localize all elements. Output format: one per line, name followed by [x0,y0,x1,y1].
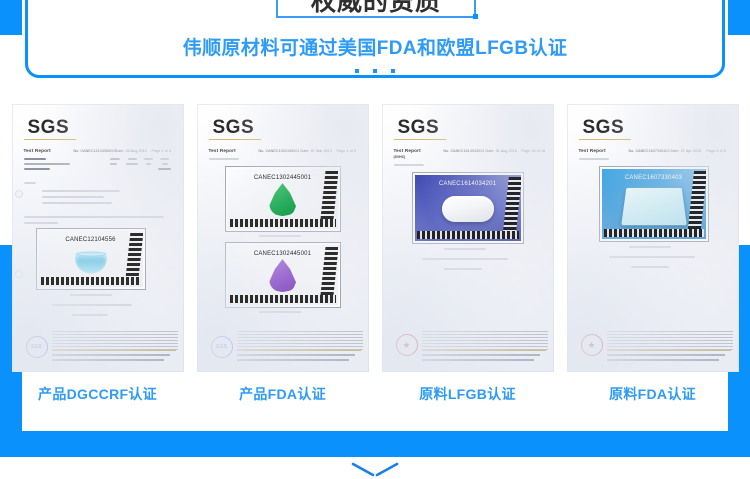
report-title: Test Report [579,148,606,154]
seal-label: SGS [31,344,42,350]
ruler-horizontal [417,231,519,239]
certificate-scan[interactable]: SGS Test Report No. CANEC1607330403 Date… [567,104,739,372]
sample-photo-frame: CANEC1614034201 [412,172,524,244]
sample-photo-code: CANEC12104556 [39,237,143,243]
report-number: No. CANEC12104556001 [74,148,117,154]
section-title-plaque: 权威的资质 [276,0,476,18]
sample-photo: CANEC12104556 [39,231,143,287]
note-line [42,196,104,198]
certificate-scan[interactable]: SGS Test Report No. CANEC1302445001 Date… [197,104,369,372]
sample-photo-frame: CANEC1302445001 [225,166,341,232]
sample-object-green-drop [269,183,296,216]
footer-gold-rule [422,350,546,351]
sgs-logo: SGS [583,118,625,137]
photo-caption-line [629,246,671,248]
footer-contact-line [422,359,534,361]
table-cell [24,163,70,165]
section-subtitle: 伟顺原材料可通过美国FDA和欧盟LFGB认证 [0,33,750,60]
footer-contact-line [422,354,540,356]
photo-caption-line [70,294,112,296]
sample-photo: CANEC1302445001 [228,245,338,305]
table-cell [110,163,117,165]
sgs-logo-rule [209,139,261,140]
dot-1 [355,69,359,73]
certificate-caption: 原料FDA认证 [609,384,696,404]
table-cell [110,158,120,160]
table-cell [160,158,169,160]
report-date: Date: 23 Aug 2012 [116,148,147,154]
certificate-section-page: 权威的资质 伟顺原材料可通过美国FDA和欧盟LFGB认证 SGS Test Re… [0,0,750,479]
end-of-report-note [72,314,108,316]
ruler-horizontal [230,295,336,303]
report-title: Test Report [394,148,421,154]
certificate-caption: 原料LFGB认证 [419,384,516,404]
certificate-item-fda-product[interactable]: SGS Test Report No. CANEC1302445001 Date… [195,104,370,404]
authenticate-note [609,256,695,258]
sample-photo-code: CANEC1302445001 [228,251,338,257]
punch-hole [15,190,23,198]
report-number: No. CANEC1302445001 [259,148,300,154]
certificate-scan[interactable]: SGS Test Report (SVHC) No. CANEC16140342… [382,104,554,372]
punch-hole [15,270,23,278]
notes-label [24,182,36,184]
cnas-seal-stamp: ★ [581,334,603,356]
sample-photo-code: CANEC1607330403 [602,175,706,181]
footer-contact-line [237,354,355,356]
footer-contact-line [607,354,725,356]
sgs-logo-rule [579,139,631,140]
sample-photo: CANEC1302445001 [228,169,338,229]
sample-photo-label [24,222,58,224]
report-subtitle: (SVHC) [394,155,406,160]
sgs-logo-rule [394,139,446,140]
authenticate-note [422,258,508,260]
sample-photo-frame: CANEC1302445001 [225,242,341,308]
report-page: Page 4 of 4 [152,148,171,154]
note-line [42,202,112,204]
report-title: Test Report [24,148,51,154]
footer-legal-block [422,330,548,350]
report-date: Date: 27 Apr 2016 [671,148,702,154]
footer-contact-line [52,354,170,356]
sample-photo-code: CANEC1302445001 [228,175,338,181]
sample-photo-label [209,158,239,160]
report-number: No. CANEC1607330403 [629,148,670,154]
sample-photo-label [579,158,609,160]
edge-strip-top-left [0,0,22,35]
table-cell [128,158,137,160]
report-number: No. CANEC1614034201 [444,148,485,154]
footer-legal-block [52,330,178,350]
sample-object-purple-drop [269,259,296,292]
result-table [24,158,172,173]
ruler-horizontal [41,277,141,285]
footer-contact-line [237,359,349,361]
footer-legal-block [607,330,733,350]
ruler-horizontal [230,219,336,227]
edge-strip-top-right [728,0,750,35]
report-title: Test Report [209,148,236,154]
sample-note-line [24,216,164,218]
table-cell [162,163,168,165]
sample-object-white-sheet [621,188,686,225]
sgs-seal-stamp: SGS [211,336,233,358]
sample-photo-code: CANEC1614034201 [415,181,521,187]
title-plaque-tick [473,14,478,19]
page-title: 权威的资质 [278,0,474,15]
sample-photo-frame: CANEC12104556 [36,228,146,290]
sample-photo: CANEC1607330403 [602,169,706,239]
dot-3 [391,69,395,73]
sample-photo-frame: CANEC1607330403 [599,166,709,242]
ruler-horizontal [604,229,704,237]
bottom-blue-band [0,431,750,457]
photo-caption-line [259,235,301,237]
sgs-logo-rule [24,139,76,140]
end-of-report-note [631,266,669,268]
certificate-caption: 产品DGCCRF认证 [38,384,157,404]
footer-legal-block [237,330,363,350]
table-cell [158,168,171,170]
table-cell [144,158,153,160]
table-cell [24,168,50,170]
certificate-item-fda-material[interactable]: SGS Test Report No. CANEC1607330403 Date… [565,104,740,404]
photo-caption-line [259,311,301,313]
certificate-item-lfgb-material[interactable]: SGS Test Report (SVHC) No. CANEC16140342… [380,104,555,404]
end-of-report-note [444,268,482,270]
report-page: Page 4 of 5 [337,148,356,154]
authenticate-note [52,304,132,306]
table-cell [146,163,151,165]
report-date: Date: 01 Aug 2016 [486,148,517,154]
sgs-logo: SGS [398,118,440,137]
chevron-down-icon[interactable] [0,462,750,479]
table-row [24,168,172,173]
footer-gold-rule [237,350,361,351]
footer-gold-rule [52,350,176,351]
seal-label: ★ [402,341,410,350]
note-line [42,190,120,192]
photo-caption-line [444,248,486,250]
sgs-seal-stamp: SGS [26,336,48,358]
seal-label: SGS [216,344,227,350]
cnas-seal-stamp: ★ [396,334,418,356]
sgs-logo: SGS [213,118,255,137]
sample-object-blue-bowl [75,251,107,273]
footer-contact-line [607,359,719,361]
report-date: Date: 07 Mar 2013 [301,148,332,154]
sample-photo: CANEC1614034201 [415,175,521,241]
seal-label: ★ [587,341,595,350]
certificate-item-dgccrf[interactable]: SGS Test Report No. CANEC12104556001 Dat… [10,104,185,404]
footer-gold-rule [607,350,731,351]
sample-object-white-case [442,196,494,222]
certificate-scan[interactable]: SGS Test Report No. CANEC12104556001 Dat… [12,104,184,372]
report-page: Page 16 of 16 [522,148,546,154]
dot-separator [0,62,750,68]
footer-contact-line [52,359,164,361]
table-cell [24,158,46,160]
sgs-logo: SGS [28,118,70,137]
certificate-caption: 产品FDA认证 [239,384,326,404]
report-page: Page 5 of 5 [707,148,726,154]
sample-photo-label [394,164,424,166]
table-cell [126,163,138,165]
dot-2 [373,69,377,73]
certificate-grid: SGS Test Report No. CANEC12104556001 Dat… [0,104,750,404]
